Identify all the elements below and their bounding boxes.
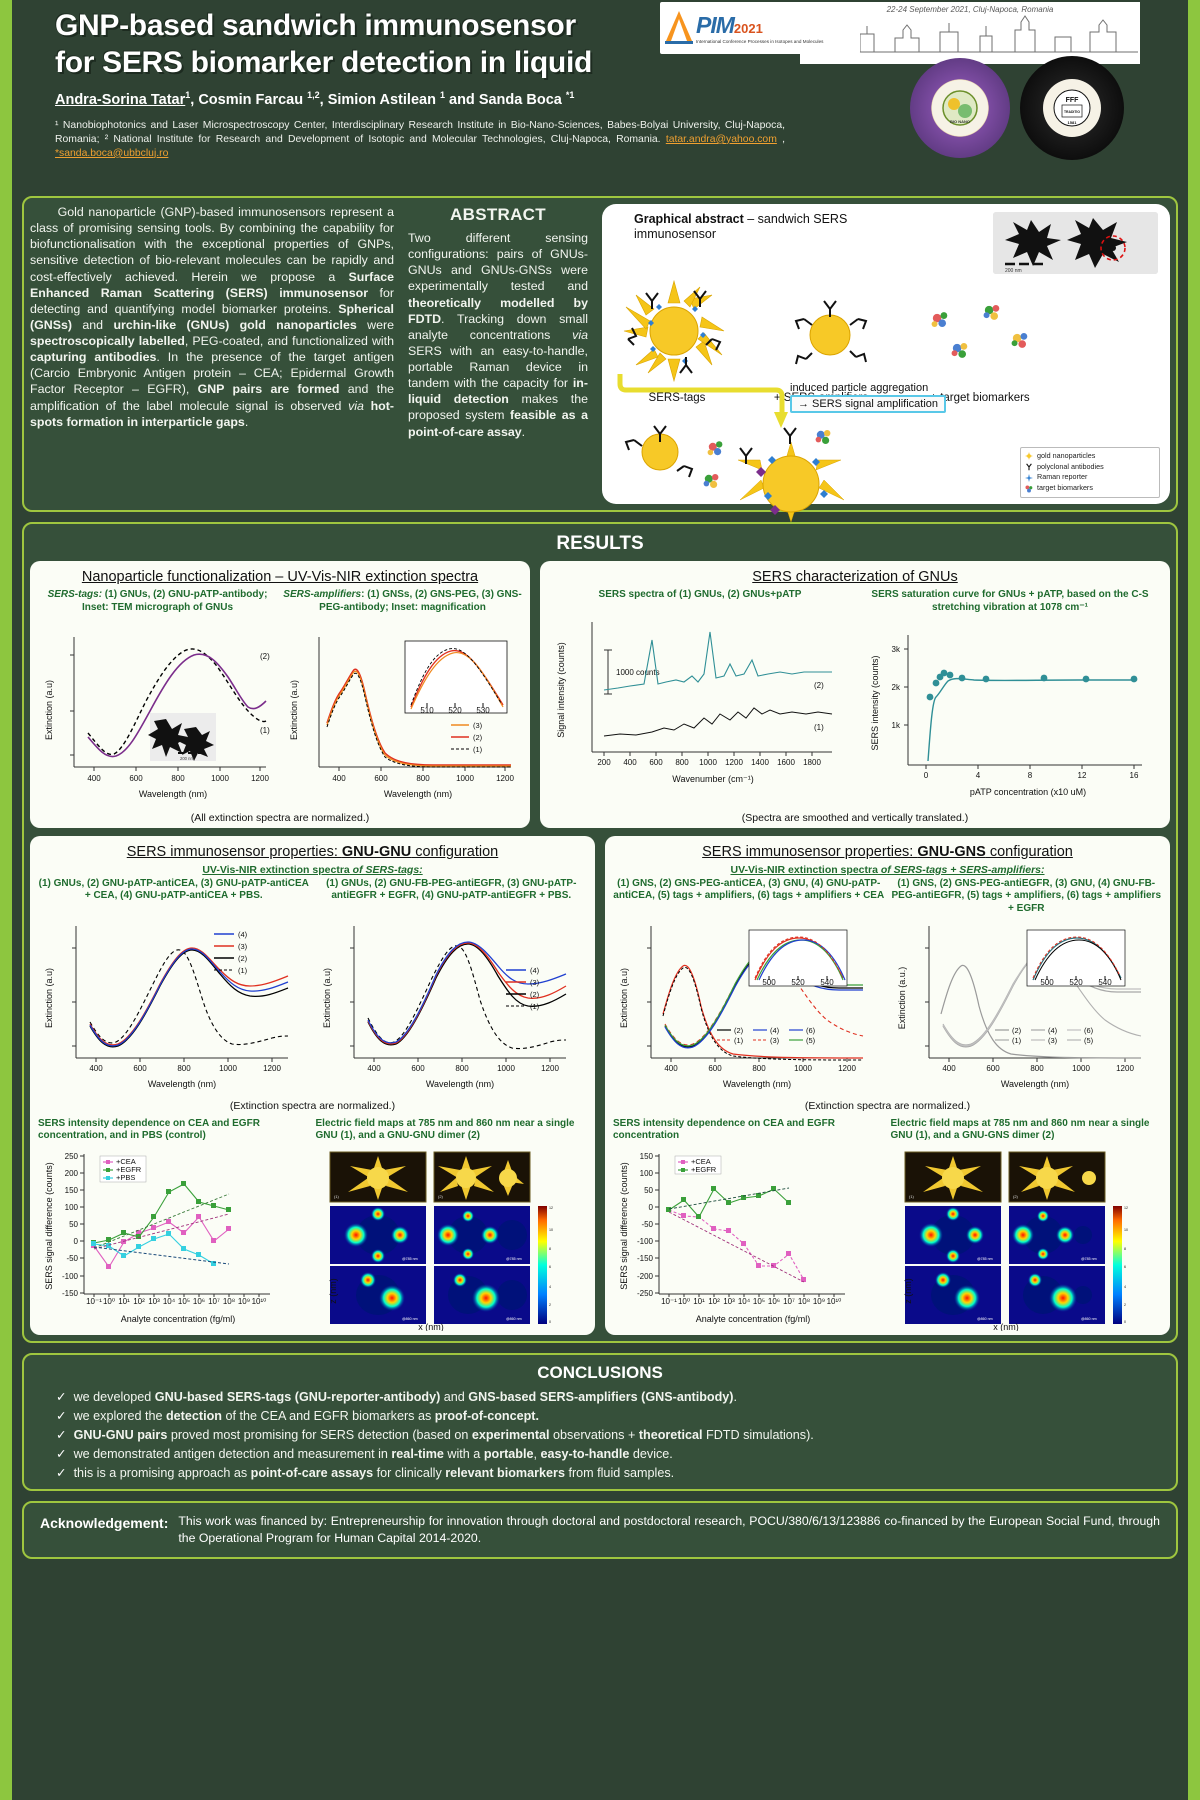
card4-title-bold: GNU-GNS: [917, 844, 985, 860]
svg-text:+EGFR: +EGFR: [691, 1165, 717, 1174]
card3-bl-caption: SERS intensity dependence on CEA and EGF…: [38, 1118, 310, 1146]
svg-text:400: 400: [623, 758, 637, 767]
svg-text:Wavelength (nm): Wavelength (nm): [384, 789, 452, 799]
svg-text:(3): (3): [530, 978, 540, 987]
svg-text:8: 8: [1124, 1247, 1126, 1251]
svg-text:0: 0: [1124, 1320, 1126, 1324]
svg-text:12: 12: [1078, 771, 1087, 780]
svg-text:Wavelength (nm): Wavelength (nm): [148, 1079, 216, 1089]
svg-text:200: 200: [65, 1169, 79, 1178]
svg-text:16: 16: [1130, 771, 1139, 780]
c4bl-b2: CEA: [763, 1118, 784, 1129]
map4-tag-1: (1): [909, 1194, 915, 1199]
svg-text:SERS intensity (counts): SERS intensity (counts): [870, 655, 880, 750]
card2-left-cap-bold: SERS spectra: [599, 589, 665, 600]
svg-text:Extinction (a.u): Extinction (a.u): [44, 968, 54, 1028]
svg-text:12: 12: [1124, 1206, 1128, 1210]
efield-map-gnu-gnu: (1) (2): [316, 1146, 566, 1331]
svg-text:-150: -150: [62, 1289, 79, 1298]
card1-left-caption: SERS-tags: (1) GNUs, (2) GNU-pATP-antibo…: [38, 589, 277, 615]
conclusion-item: GNU-GNU pairs proved most promising for …: [56, 1426, 1170, 1445]
card1-left-cap-bold: SERS-tags:: [48, 589, 102, 600]
gnu-render-1: (1): [330, 1152, 426, 1202]
card1-left-plot: SERS-tags: (1) GNUs, (2) GNU-pATP-antibo…: [38, 589, 277, 810]
legend-label-1: polyclonal antibodies: [1037, 462, 1104, 473]
legend-label-0: gold nanoparticles: [1037, 451, 1095, 462]
svg-text:10⁹: 10⁹: [813, 1297, 825, 1306]
card4-intensity-plot: SERS intensity dependence on CEA and EGF…: [613, 1118, 885, 1331]
card4-bl-legend: +CEA +EGFR: [675, 1156, 721, 1174]
efield-785-dimer: @785 nm: [434, 1206, 530, 1264]
svg-text:10: 10: [549, 1228, 553, 1232]
card3-right-caption: (1) GNUs, (2) GNU-FB-PEG-antiEGFR, (3) G…: [316, 878, 588, 918]
author-list: Andra-Sorina Tatar1, Cosmin Farcau 1,2, …: [55, 90, 1180, 108]
sers-amplifier-particle-icon: [796, 301, 866, 364]
left-accent-bar: [0, 0, 12, 1800]
svg-text:1400: 1400: [751, 758, 769, 767]
svg-text:Extinction (a.u): Extinction (a.u): [322, 968, 332, 1028]
svg-text:-150: -150: [637, 1254, 654, 1263]
tem-urchin-shapes-icon: 200 nm: [993, 212, 1158, 274]
svg-text:1000: 1000: [699, 758, 717, 767]
chart-sers-spectra: Signal intensity (counts) 1000 counts 20…: [548, 602, 838, 797]
svg-text:-100: -100: [637, 1237, 654, 1246]
card3-field-maps: Electric field maps at 785 nm and 860 nm…: [316, 1118, 588, 1331]
svg-text:10⁶: 10⁶: [193, 1297, 205, 1306]
chart-gnu-gnu-egfr-extinction: 400 600 800 1000 1200 Wavelength (nm) Ex…: [316, 918, 574, 1098]
card-gnu-gns-configuration: SERS immunosensor properties: GNU-GNS co…: [605, 836, 1170, 1335]
legend-label-2: Raman reporter: [1037, 472, 1087, 483]
efield4-860-single: @860 nm: [905, 1266, 1001, 1324]
card2-curve-label-2: (2): [814, 681, 824, 690]
svg-text:SERS signal difference (counts: SERS signal difference (counts): [619, 1162, 629, 1289]
card2-scalebar: [604, 650, 612, 694]
card3-footer: (Extinction spectra are normalized.): [38, 1100, 587, 1112]
conclusion-item: we explored the detection of the CEA and…: [56, 1407, 1170, 1426]
svg-text:200: 200: [597, 758, 611, 767]
chart-gnu-gnu-sers-intensity: 250 200 150 100 50 0 -50 -100 -150 SERS …: [38, 1146, 278, 1331]
card2-footer: (Spectra are smoothed and vertically tra…: [548, 812, 1162, 824]
conclusions-list: we developed GNU-based SERS-tags (GNU-re…: [30, 1388, 1170, 1484]
chart-sers-tags-extinction: 400 600 800 1000 1200 Wavelength (nm) Ex…: [38, 615, 276, 810]
university-seal-napocensis: FFF TRADITIO 1581: [1020, 56, 1124, 160]
acknowledgement-label: Acknowledgement:: [40, 1513, 168, 1531]
svg-text:10⁹: 10⁹: [238, 1297, 250, 1306]
graphical-abstract-legend: gold nanoparticles polyclonal antibodies…: [1020, 447, 1160, 498]
svg-text:(5): (5): [1084, 1036, 1094, 1045]
legend-item-1: polyclonal antibodies: [1025, 462, 1155, 473]
svg-text:1200: 1200: [725, 758, 743, 767]
chart-gnu-gnu-cea-extinction: 400 600 800 1000 1200 Wavelength (nm) Ex…: [38, 918, 296, 1098]
results-row-2: SERS immunosensor properties: GNU-GNU co…: [30, 836, 1170, 1335]
map-tag-1: (1): [334, 1194, 340, 1199]
svg-text:Wavelength (nm): Wavelength (nm): [425, 1079, 493, 1089]
svg-text:10⁸: 10⁸: [798, 1297, 810, 1306]
svg-text:150: 150: [640, 1152, 654, 1161]
svg-text:1581: 1581: [1068, 120, 1078, 125]
email-separator: ,: [777, 134, 785, 145]
title-line-1: GNP-based sandwich immunosensor: [55, 8, 695, 45]
ga-sandwich-complex-diagram: [616, 422, 896, 522]
target-biomarker-icon: [1025, 485, 1033, 493]
card3-title-suffix: configuration: [411, 844, 498, 860]
card4-right-legend: (2) (4) (6) (1) (3) (5): [995, 1026, 1094, 1045]
card4-left-plot: (1) GNS, (2) GNS-PEG-antiCEA, (3) GNU, (…: [613, 878, 885, 1098]
card4-top-plots: (1) GNS, (2) GNS-PEG-antiCEA, (3) GNU, (…: [613, 878, 1162, 1098]
card3-left-caption: (1) GNUs, (2) GNU-pATP-antiCEA, (3) GNU-…: [38, 878, 310, 918]
svg-text:400: 400: [332, 774, 346, 783]
c3bl-b2: CEA: [188, 1118, 209, 1129]
map4-wl-785-b: @785 nm: [1081, 1257, 1097, 1261]
card4-right-caption: (1) GNS, (2) GNS-PEG-antiEGFR, (3) GNU, …: [891, 878, 1163, 918]
svg-text:SERS signal difference (counts: SERS signal difference (counts): [44, 1162, 54, 1289]
svg-text:510: 510: [420, 706, 434, 715]
svg-text:-100: -100: [62, 1272, 79, 1281]
svg-text:530: 530: [476, 706, 490, 715]
svg-text:TRADITIO: TRADITIO: [1064, 110, 1080, 114]
card4-footer: (Extinction spectra are normalized.): [613, 1100, 1162, 1112]
card4-left-legend: (2) (4) (6) (1) (3) (5): [717, 1026, 816, 1045]
card3-subcaption: UV-Vis-NIR extinction spectra of SERS-ta…: [38, 864, 587, 876]
svg-text:(2): (2): [530, 990, 540, 999]
acknowledgement-text: This work was financed by: Entrepreneurs…: [178, 1513, 1160, 1547]
seal2-inner: FFF TRADITIO 1581: [1043, 79, 1101, 137]
svg-text:520: 520: [448, 706, 462, 715]
map4-wl-860-b: @860 nm: [1081, 1317, 1097, 1321]
svg-text:10⁴: 10⁴: [738, 1297, 751, 1306]
svg-text:10⁵: 10⁵: [178, 1297, 190, 1306]
card-sers-characterization: SERS characterization of GNUs SERS spect…: [540, 561, 1170, 828]
svg-text:600: 600: [129, 774, 143, 783]
card1-plots: SERS-tags: (1) GNUs, (2) GNU-pATP-antibo…: [38, 589, 522, 810]
map-tag-2: (2): [438, 1194, 444, 1199]
map4-wl-785-a: @785 nm: [977, 1257, 993, 1261]
ga-particles-diagram: [612, 273, 1082, 388]
map-wl-860-b: @860 nm: [506, 1317, 522, 1321]
card2-curve-label-1: (1): [814, 723, 824, 732]
svg-text:6: 6: [1124, 1265, 1126, 1269]
svg-text:(3): (3): [473, 721, 483, 730]
svg-text:-50: -50: [641, 1220, 653, 1229]
seal1-emblem-icon: BIO NANO: [941, 89, 979, 127]
card2-plots: SERS spectra of (1) GNUs, (2) GNUs+pATP …: [548, 589, 1162, 810]
pim-mountain-icon: [664, 7, 694, 49]
chart-sers-amplifiers-extinction: 400 600 800 1000 1200 Wavelength (nm) Ex…: [283, 615, 521, 810]
card4-subcaption: UV-Vis-NIR extinction spectra of SERS-ta…: [613, 864, 1162, 876]
svg-text:(5): (5): [806, 1036, 816, 1045]
svg-text:10¹⁰: 10¹⁰: [252, 1297, 267, 1306]
svg-text:(2): (2): [238, 954, 248, 963]
svg-text:400: 400: [89, 1064, 103, 1073]
card-nanoparticle-functionalization: Nanoparticle functionalization – UV-Vis-…: [30, 561, 530, 828]
svg-text:800: 800: [177, 1064, 191, 1073]
svg-text:10¹⁰: 10¹⁰: [827, 1297, 842, 1306]
svg-text:1000: 1000: [794, 1064, 812, 1073]
svg-text:-50: -50: [66, 1254, 78, 1263]
svg-text:0: 0: [74, 1237, 79, 1246]
conclusions-panel: CONCLUSIONS we developed GNU-based SERS-…: [22, 1353, 1178, 1492]
svg-text:1200: 1200: [541, 1064, 559, 1073]
svg-text:10⁻¹: 10⁻¹: [86, 1297, 102, 1306]
svg-text:(4): (4): [238, 930, 248, 939]
svg-text:10²: 10²: [133, 1297, 145, 1306]
svg-text:600: 600: [986, 1064, 1000, 1073]
email-link-2[interactable]: *sanda.boca@ubbcluj.ro: [55, 148, 168, 159]
map4-ylabel: z (nm): [903, 1278, 913, 1304]
legend-item-3: target biomarkers: [1025, 483, 1155, 494]
card1-right-plot: SERS-amplifiers: (1) GNSs, (2) GNS-PEG, …: [283, 589, 522, 810]
card1-curve-label-1: (1): [260, 726, 270, 735]
svg-text:4: 4: [976, 771, 981, 780]
pim-logo-text: PIM: [696, 12, 734, 38]
svg-text:250: 250: [65, 1152, 79, 1161]
svg-text:Wavelength (nm): Wavelength (nm): [139, 789, 207, 799]
polyclonal-antibody-icon: [1025, 463, 1033, 471]
card4-subcap-rest: of SERS-tags + SERS-amplifiers:: [878, 864, 1045, 876]
c3bl-r4: (control): [162, 1130, 205, 1141]
svg-text:(4): (4): [530, 966, 540, 975]
c3bl-r1: dependence on: [109, 1118, 188, 1129]
svg-text:Extinction (a.u): Extinction (a.u): [619, 968, 629, 1028]
pim-logo-subtitle: International Conference Processes in Is…: [696, 39, 823, 45]
author-sup-12: 1,2: [307, 90, 320, 100]
svg-text:8: 8: [549, 1247, 551, 1251]
chart-gnu-gns-sers-intensity: 150 100 50 0 -50 -100 -150 -200 -250 SER…: [613, 1146, 853, 1331]
author-sup-star: *1: [566, 90, 575, 100]
svg-text:1800: 1800: [803, 758, 821, 767]
legend-item-0: gold nanoparticles: [1025, 451, 1155, 462]
card2-title: SERS characterization of GNUs: [548, 569, 1162, 585]
gnu-render-2: (2): [434, 1152, 530, 1202]
seal1-inner: BIO NANO: [932, 80, 988, 136]
svg-text:10³: 10³: [148, 1297, 160, 1306]
card4-subcap-bold: UV-Vis-NIR extinction spectra: [730, 864, 877, 876]
ga-note-amplification: → SERS signal amplification: [790, 395, 946, 413]
legend-item-2: Raman reporter: [1025, 472, 1155, 483]
card4-field-maps: Electric field maps at 785 nm and 860 nm…: [891, 1118, 1163, 1331]
card4-left-caption: (1) GNS, (2) GNS-PEG-antiCEA, (3) GNU, (…: [613, 878, 885, 918]
svg-text:10²: 10²: [708, 1297, 720, 1306]
card1-tem-inset: 200 nm: [148, 713, 216, 761]
map4-xlabel: x (nm): [993, 1322, 1019, 1331]
svg-text:(3): (3): [770, 1036, 780, 1045]
svg-text:(3): (3): [1048, 1036, 1058, 1045]
card3-title-bold: GNU-GNU: [342, 844, 411, 860]
right-accent-bar: [1188, 0, 1200, 1800]
card4-bottom-plots: SERS intensity dependence on CEA and EGF…: [613, 1118, 1162, 1331]
svg-text:400: 400: [367, 1064, 381, 1073]
tem-micrograph-image: 200 nm: [993, 212, 1158, 274]
svg-text:600: 600: [374, 774, 388, 783]
map-wl-785-a: @785 nm: [402, 1257, 418, 1261]
svg-text:1200: 1200: [1116, 1064, 1134, 1073]
card4-right-plot: (1) GNS, (2) GNS-PEG-antiEGFR, (3) GNU, …: [891, 878, 1163, 1098]
gns-render-1: (1): [905, 1152, 1001, 1202]
svg-text:10³: 10³: [723, 1297, 735, 1306]
svg-text:+PBS: +PBS: [116, 1173, 135, 1182]
raman-reporter-icon: [1025, 474, 1033, 482]
c4bl-r2: and: [784, 1118, 807, 1129]
svg-text:800: 800: [1030, 1064, 1044, 1073]
chart-gnu-gns-cea-extinction: 400 600 800 1000 1200 Wavelength (nm) Ex…: [613, 918, 871, 1098]
svg-text:400: 400: [664, 1064, 678, 1073]
card1-footer: (All extinction spectra are normalized.): [38, 812, 522, 824]
svg-text:10¹: 10¹: [118, 1297, 130, 1306]
svg-text:50: 50: [69, 1220, 78, 1229]
svg-text:500: 500: [762, 978, 776, 987]
results-panel: RESULTS Nanoparticle functionalization –…: [22, 522, 1178, 1343]
svg-text:Signal intensity (counts): Signal intensity (counts): [556, 642, 566, 738]
efield-map-gnu-gns: (1) (2) @785 nm: [891, 1146, 1141, 1331]
svg-text:(4): (4): [770, 1026, 780, 1035]
chart-gnu-gns-egfr-extinction: 400 600 800 1000 1200 Wavelength (nm) Ex…: [891, 918, 1149, 1098]
svg-text:1000: 1000: [456, 774, 474, 783]
svg-text:(1): (1): [238, 966, 248, 975]
svg-text:800: 800: [455, 1064, 469, 1073]
card1-legend: (3) (2) (1): [451, 721, 483, 754]
svg-text:FFF: FFF: [1066, 97, 1080, 104]
svg-text:(1): (1): [530, 1002, 540, 1011]
pim-logo-year: 2021: [734, 21, 763, 36]
target-biomarker-icons: [932, 305, 1028, 358]
card3-br-caption: Electric field maps at 785 nm and 860 nm…: [316, 1118, 588, 1146]
c4bl-b1: SERS intensity: [613, 1118, 684, 1129]
svg-text:Extinction (a.u): Extinction (a.u): [44, 680, 54, 740]
efield-860-dimer: @860 nm: [434, 1266, 530, 1324]
author-sep-1: , Cosmin Farcau: [190, 92, 307, 108]
graphical-abstract: Graphical abstract – sandwich SERS immun…: [602, 204, 1170, 504]
card4-title-suffix: configuration: [986, 844, 1073, 860]
card3-subcap-bold: UV-Vis-NIR extinction spectra: [202, 864, 349, 876]
title-line-2: for SERS biomarker detection in liquid: [55, 45, 695, 82]
email-link-1[interactable]: tatar.andra@yahoo.com: [666, 134, 777, 145]
card1-magnification-inset: 510 520 530: [405, 641, 507, 715]
ga-note-aggregation: induced particle aggregation: [790, 382, 1022, 394]
svg-text:(3): (3): [238, 942, 248, 951]
svg-text:(1): (1): [473, 745, 483, 754]
svg-text:10⁰: 10⁰: [103, 1297, 115, 1306]
card1-left-cap-rest: (1) GNUs, (2) GNU-pATP-antibody; Inset: …: [82, 589, 267, 613]
svg-text:(2): (2): [473, 733, 483, 742]
svg-text:Analyte concentration (fg/ml): Analyte concentration (fg/ml): [121, 1314, 236, 1324]
svg-text:BIO NANO: BIO NANO: [950, 119, 970, 124]
svg-text:540: 540: [1098, 978, 1112, 987]
map4-tag-2: (2): [1013, 1194, 1019, 1199]
svg-text:10⁴: 10⁴: [163, 1297, 176, 1306]
svg-text:1200: 1200: [838, 1064, 856, 1073]
svg-text:1200: 1200: [263, 1064, 281, 1073]
card1-right-caption: SERS-amplifiers: (1) GNSs, (2) GNS-PEG, …: [283, 589, 522, 615]
svg-text:(6): (6): [806, 1026, 816, 1035]
svg-text:10⁸: 10⁸: [223, 1297, 235, 1306]
abstract-column-2: ABSTRACT Two different sensing configura…: [408, 204, 588, 504]
card3-intensity-plot: SERS intensity dependence on CEA and EGF…: [38, 1118, 310, 1331]
card3-subcap-rest: of SERS-tags:: [350, 864, 423, 876]
svg-text:800: 800: [171, 774, 185, 783]
card1-curve-label-2: (2): [260, 652, 270, 661]
card2-left-caption: SERS spectra of (1) GNUs, (2) GNUs+pATP: [548, 589, 852, 602]
svg-text:100: 100: [65, 1203, 79, 1212]
poster-header: GNP-based sandwich immunosensor for SERS…: [0, 0, 1200, 196]
card3-title: SERS immunosensor properties: GNU-GNU co…: [38, 844, 587, 860]
card2-right-caption: SERS saturation curve for GNUs + pATP, b…: [858, 589, 1162, 615]
conclusions-heading: CONCLUSIONS: [30, 1363, 1170, 1383]
svg-text:Analyte concentration (fg/ml): Analyte concentration (fg/ml): [696, 1314, 811, 1324]
svg-text:2: 2: [549, 1303, 551, 1307]
card3-right-plot: (1) GNUs, (2) GNU-FB-PEG-antiEGFR, (3) G…: [316, 878, 588, 1098]
card4-br-caption: Electric field maps at 785 nm and 860 nm…: [891, 1118, 1163, 1146]
svg-text:3k: 3k: [892, 645, 901, 654]
svg-text:-200: -200: [637, 1272, 654, 1281]
card3-bl-legend: +CEA +EGFR +PBS: [100, 1156, 146, 1182]
svg-text:Extinction (a.u): Extinction (a.u): [289, 680, 299, 740]
svg-text:1000: 1000: [219, 1064, 237, 1073]
svg-text:520: 520: [791, 978, 805, 987]
results-row-1: Nanoparticle functionalization – UV-Vis-…: [30, 561, 1170, 828]
card2-right-plot: SERS saturation curve for GNUs + pATP, b…: [858, 589, 1162, 810]
svg-text:600: 600: [411, 1064, 425, 1073]
svg-text:10⁷: 10⁷: [208, 1297, 220, 1306]
svg-text:150: 150: [65, 1186, 79, 1195]
efield4-785-dimer: @785 nm: [1009, 1206, 1105, 1264]
efield4-860-dimer: @860 nm: [1009, 1266, 1105, 1324]
svg-text:1000: 1000: [211, 774, 229, 783]
svg-text:2: 2: [1124, 1303, 1126, 1307]
acknowledgement-panel: Acknowledgement: This work was financed …: [22, 1501, 1178, 1559]
c4bl-r1: dependence on: [684, 1118, 763, 1129]
svg-text:8: 8: [1028, 771, 1033, 780]
svg-text:0: 0: [549, 1320, 551, 1324]
conclusion-item: we developed GNU-based SERS-tags (GNU-re…: [56, 1388, 1170, 1407]
ga-title-bold: Graphical abstract: [634, 212, 744, 226]
svg-text:400: 400: [87, 774, 101, 783]
card3-left-plot: (1) GNUs, (2) GNU-pATP-antiCEA, (3) GNU-…: [38, 878, 310, 1098]
c4bl-r3: concentration: [613, 1130, 679, 1141]
svg-text:(1): (1): [734, 1036, 744, 1045]
svg-text:520: 520: [1069, 978, 1083, 987]
svg-text:Wavenumber (cm⁻¹): Wavenumber (cm⁻¹): [672, 774, 753, 784]
c3bl-b4: PBS: [142, 1130, 163, 1141]
svg-text:1000: 1000: [1072, 1064, 1090, 1073]
card-gnu-gnu-configuration: SERS immunosensor properties: GNU-GNU co…: [30, 836, 595, 1335]
map-wl-860-a: @860 nm: [402, 1317, 418, 1321]
abstract-column-1: Gold nanoparticle (GNP)-based immunosens…: [30, 204, 394, 504]
abstract-heading: ABSTRACT: [408, 204, 588, 226]
efield-785-single: @785 nm: [330, 1206, 426, 1264]
card4-right-inset: 500 520 540: [1027, 930, 1125, 987]
page-title: GNP-based sandwich immunosensor for SERS…: [55, 8, 695, 81]
c3bl-b3: EGFR: [232, 1118, 260, 1129]
gold-nanoparticle-icon: [1025, 452, 1033, 460]
card2-right-cap-bold: SERS saturation curve: [871, 589, 979, 600]
author-sep-2: , Simion Astilean: [320, 92, 440, 108]
pim-conference-logo: PIM2021 International Conference Process…: [660, 2, 860, 54]
results-heading: RESULTS: [30, 530, 1170, 561]
gns-render-2: (2): [1009, 1152, 1105, 1202]
svg-text:10⁶: 10⁶: [768, 1297, 780, 1306]
svg-text:600: 600: [133, 1064, 147, 1073]
map-wl-785-b: @785 nm: [506, 1257, 522, 1261]
svg-text:0: 0: [649, 1203, 654, 1212]
card3-bottom-plots: SERS intensity dependence on CEA and EGF…: [38, 1118, 587, 1331]
svg-text:800: 800: [752, 1064, 766, 1073]
svg-text:0: 0: [924, 771, 929, 780]
abstract-column-2-body: Two different sensing configurations: pa…: [408, 230, 588, 440]
sers-tag-particle-icon: [624, 281, 724, 381]
svg-text:10⁰: 10⁰: [678, 1297, 690, 1306]
svg-text:10⁵: 10⁵: [753, 1297, 765, 1306]
card1-title: Nanoparticle functionalization – UV-Vis-…: [38, 569, 522, 585]
